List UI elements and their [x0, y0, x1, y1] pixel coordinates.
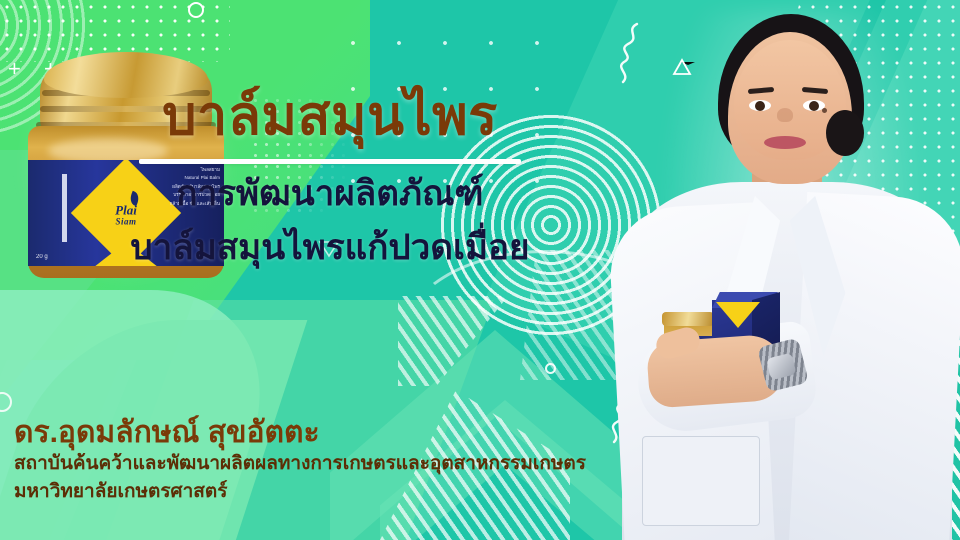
presenter-lips	[764, 136, 806, 149]
presenter-credit-block: ดร.อุดมลักษณ์ สุขอัตตะ สถาบันค้นคว้าและพ…	[14, 416, 714, 504]
presenter-hair-bun	[826, 110, 864, 156]
circle-outline-icon-1	[188, 2, 204, 18]
title-divider	[139, 159, 521, 164]
presenter-affiliation-line-2: มหาวิทยาลัยเกษตรศาสตร์	[14, 479, 714, 505]
presenter-name: ดร.อุดมลักษณ์ สุขอัตตะ	[14, 416, 714, 449]
subtitle-line-2: บาล์มสมุนไพรแก้ปวดเมื่อย	[0, 228, 660, 268]
subtitle-line-1: การพัฒนาผลิตภัณฑ์	[0, 174, 660, 214]
presenter-eye-left	[749, 100, 771, 111]
held-box-yellow-triangle	[716, 302, 760, 328]
presenter-mole	[822, 108, 827, 113]
title-block: บาล์มสมุนไพร การพัฒนาผลิตภัณฑ์ บาล์มสมุน…	[0, 88, 660, 268]
held-jar-lid	[662, 312, 714, 326]
circle-outline-icon-2	[545, 363, 556, 374]
presenter-affiliation-line-1: สถาบันค้นคว้าและพัฒนาผลิตผลทางการเกษตรแล…	[14, 451, 714, 477]
presenter-nose	[777, 108, 793, 122]
presentation-slide: + + + Plai Siam ไพลสยาม	[0, 0, 960, 540]
page-title: บาล์มสมุนไพร	[0, 88, 660, 145]
wristwatch-face	[766, 353, 797, 381]
